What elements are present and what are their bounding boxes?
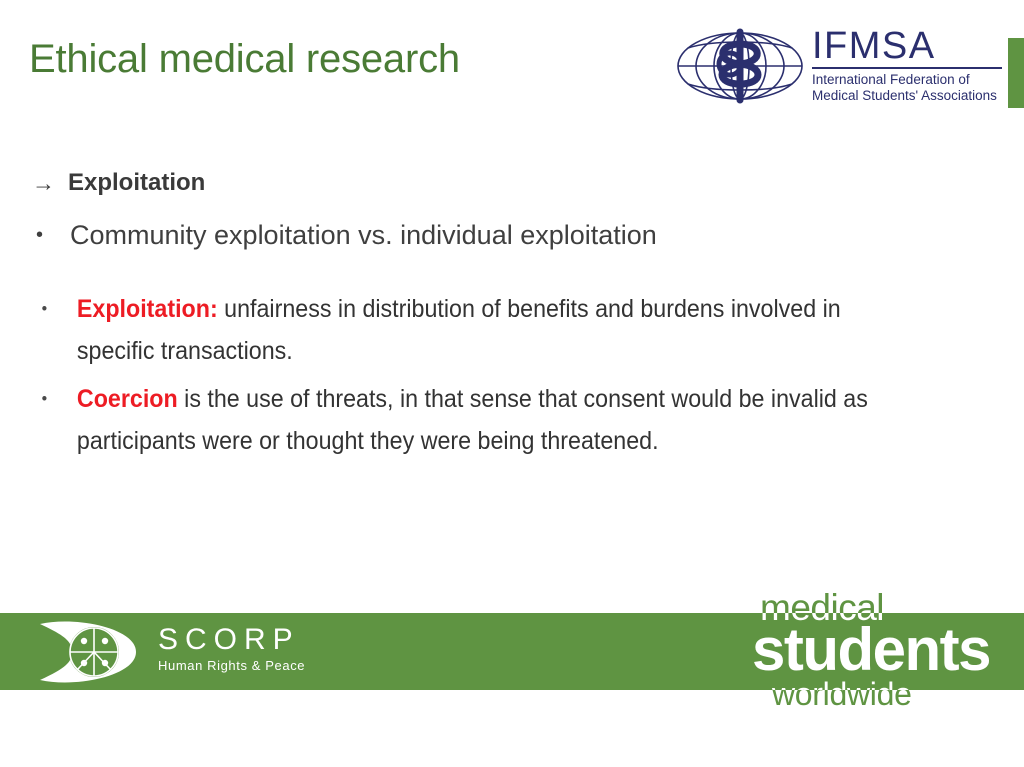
ifmsa-wordmark: IFMSA International Federation of Medica… bbox=[812, 26, 1008, 104]
logo-green-edge-bar bbox=[1008, 38, 1024, 108]
bullet-exploitation-definition: • Exploitation: unfairness in distributi… bbox=[36, 288, 895, 372]
bullet-marker: • bbox=[36, 218, 43, 252]
scorp-wordmark: SCORP Human Rights & Peace bbox=[158, 624, 338, 674]
ifmsa-logo: IFMSA International Federation of Medica… bbox=[672, 18, 1008, 114]
bullet-exploitation-heading: → Exploitation bbox=[32, 168, 1024, 202]
scorp-tagline: Human Rights & Peace bbox=[158, 658, 338, 674]
arrow-marker: → bbox=[32, 168, 55, 198]
bullet-marker: • bbox=[42, 288, 48, 330]
scorp-logo: SCORP Human Rights & Peace bbox=[32, 616, 332, 686]
medical-students-worldwide-logo: medical medical students worldwide world… bbox=[752, 588, 1024, 720]
ifmsa-subtitle-line-2: Medical Students' Associations bbox=[812, 88, 1008, 104]
ifmsa-acronym: IFMSA bbox=[812, 26, 1002, 69]
bullet-lead-term: Coercion bbox=[77, 385, 178, 413]
bullet-text: Coercion is the use of threats, in that … bbox=[77, 378, 895, 462]
slide-body: → Exploitation • Community exploitation … bbox=[0, 168, 1024, 462]
page-title: Ethical medical research bbox=[29, 36, 460, 82]
bullet-community-exploitation: • Community exploitation vs. individual … bbox=[32, 218, 1024, 252]
bullet-body-text: is the use of threats, in that sense tha… bbox=[77, 385, 868, 455]
scorp-crescent-peace-emblem bbox=[32, 620, 150, 684]
bullet-text: Exploitation: unfairness in distribution… bbox=[77, 288, 895, 372]
msw-line-students: students bbox=[752, 618, 990, 682]
presentation-slide: Ethical medical research bbox=[0, 0, 1024, 767]
bullet-marker: • bbox=[42, 378, 48, 420]
bullet-lead-term: Exploitation: bbox=[77, 295, 218, 323]
ifmsa-subtitle-line-1: International Federation of bbox=[812, 72, 1008, 88]
ifmsa-globe-caduceus-emblem bbox=[672, 26, 808, 106]
bullet-coercion-definition: • Coercion is the use of threats, in tha… bbox=[36, 378, 895, 462]
bullet-text: Exploitation bbox=[68, 168, 1024, 198]
scorp-name: SCORP bbox=[158, 624, 338, 656]
bullet-text: Community exploitation vs. individual ex… bbox=[70, 218, 1024, 252]
